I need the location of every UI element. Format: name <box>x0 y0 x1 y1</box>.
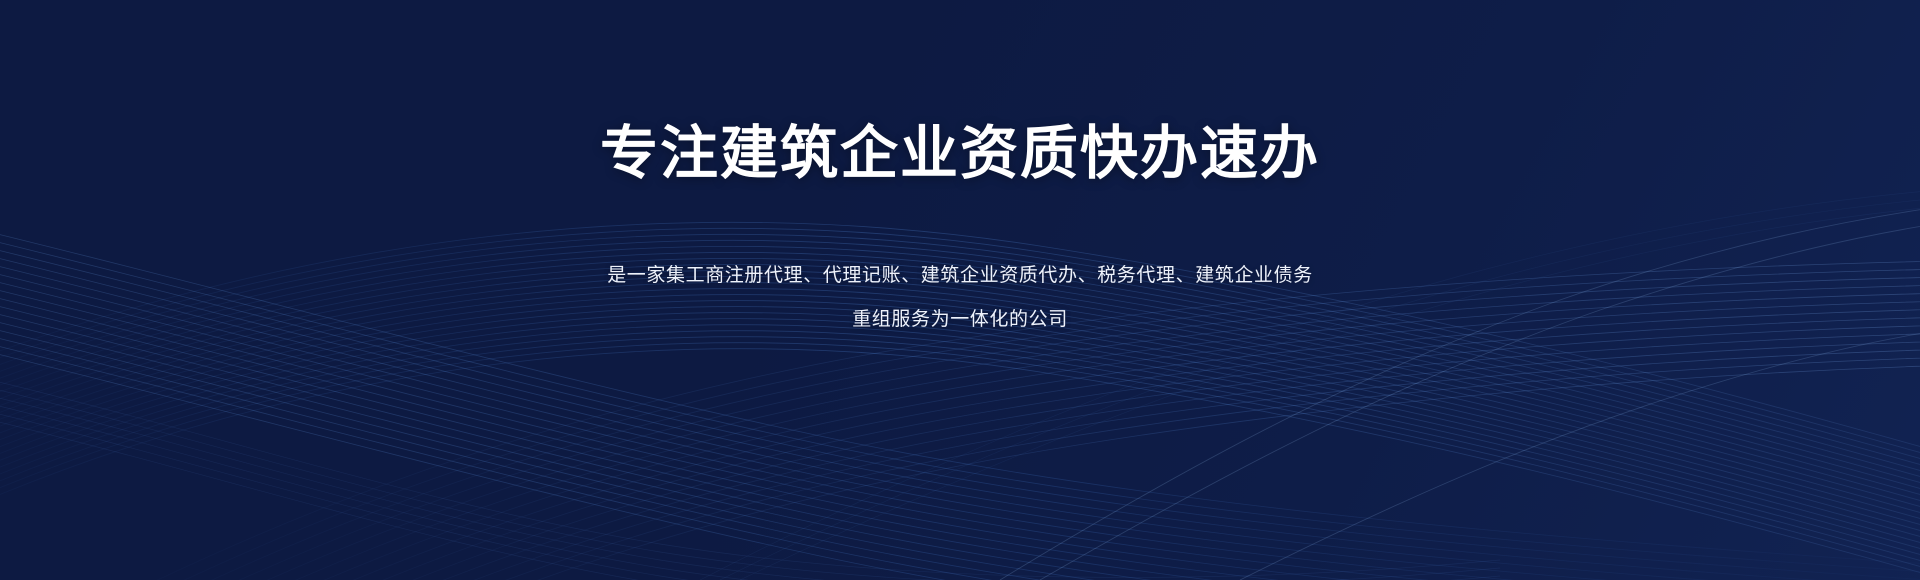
hero-banner: 专注建筑企业资质快办速办 是一家集工商注册代理、代理记账、建筑企业资质代办、税务… <box>0 0 1920 580</box>
banner-subtitle: 是一家集工商注册代理、代理记账、建筑企业资质代办、税务代理、建筑企业债务重组服务… <box>600 254 1320 343</box>
banner-content: 专注建筑企业资质快办速办 是一家集工商注册代理、代理记账、建筑企业资质代办、税务… <box>0 0 1920 580</box>
page-title: 专注建筑企业资质快办速办 <box>600 122 1320 187</box>
